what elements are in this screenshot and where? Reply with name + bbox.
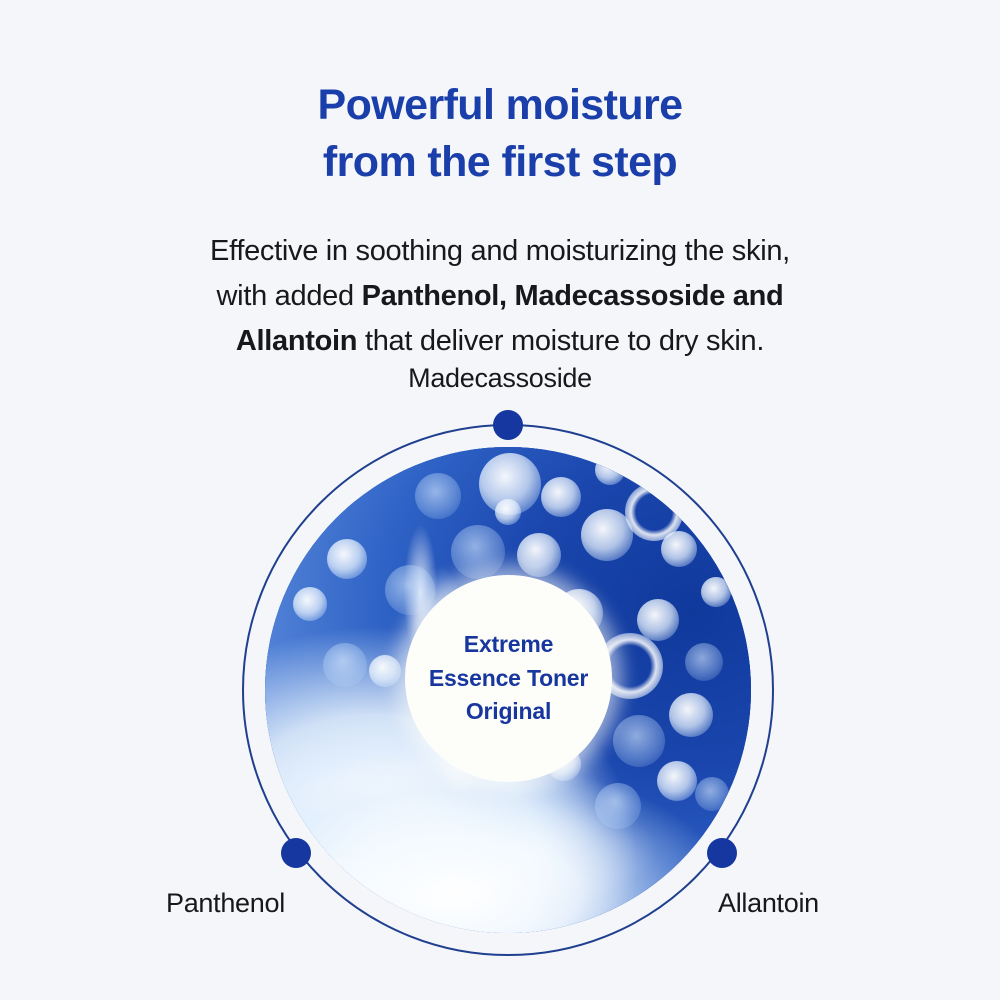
node-dot-allantoin[interactable]: [707, 838, 737, 868]
node-dot-panthenol[interactable]: [281, 838, 311, 868]
node-dot-madecassoside[interactable]: [493, 410, 523, 440]
product-name-line-2: Essence Toner: [429, 662, 588, 696]
product-name-badge: Extreme Essence Toner Original: [405, 575, 612, 782]
product-name-text: Extreme Essence Toner Original: [429, 628, 588, 729]
product-name-line-1: Extreme: [429, 628, 588, 662]
node-label-madecassoside: Madecassoside: [0, 363, 1000, 394]
node-label-panthenol: Panthenol: [166, 888, 285, 919]
orbit-ring-graphic: [0, 0, 1000, 1000]
ingredient-orbit-diagram: Extreme Essence Toner Original Madecasso…: [0, 0, 1000, 1000]
product-feature-panel: Powerful moisture from the first step Ef…: [0, 0, 1000, 1000]
node-label-allantoin: Allantoin: [718, 888, 819, 919]
product-name-line-3: Original: [429, 695, 588, 729]
